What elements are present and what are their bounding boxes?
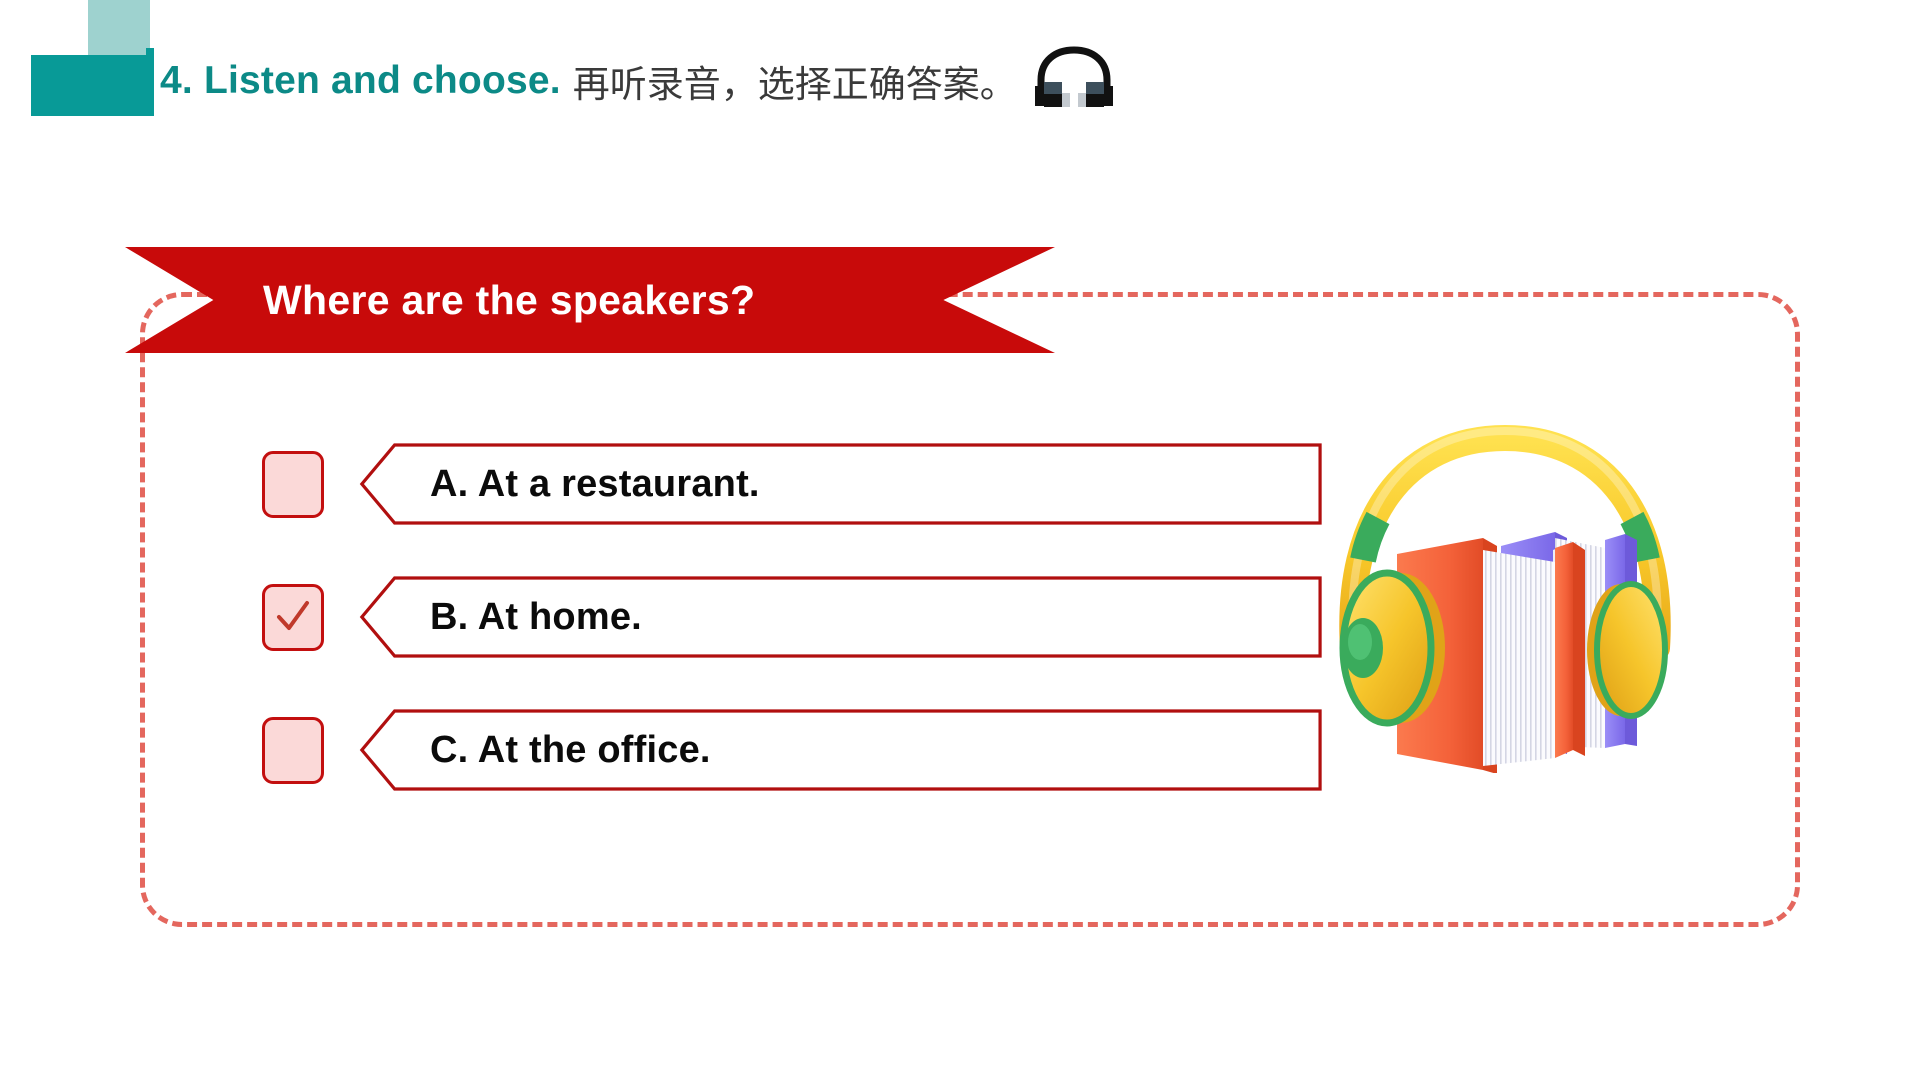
- option-label-a: A. At a restaurant.: [430, 443, 760, 525]
- header-decoration-accent-bar: [146, 48, 154, 116]
- option-checkbox-b[interactable]: [262, 584, 324, 651]
- option-ribbon-b[interactable]: B. At home.: [358, 576, 1322, 658]
- page-header: 4. Listen and choose. 再听录音，选择正确答案。: [160, 46, 1117, 116]
- option-ribbon-c[interactable]: C. At the office.: [358, 709, 1322, 791]
- option-label-c: C. At the office.: [430, 709, 711, 791]
- option-checkbox-a[interactable]: [262, 451, 324, 518]
- page-title-english: 4. Listen and choose.: [160, 59, 561, 103]
- option-row-a[interactable]: A. At a restaurant.: [262, 440, 1322, 528]
- question-banner: Where are the speakers?: [125, 247, 1055, 353]
- question-text: Where are the speakers?: [263, 277, 755, 324]
- answer-options-list: A. At a restaurant. B. At home. C. At th…: [262, 440, 1322, 839]
- option-label-b: B. At home.: [430, 576, 642, 658]
- option-ribbon-a[interactable]: A. At a restaurant.: [358, 443, 1322, 525]
- option-row-b[interactable]: B. At home.: [262, 573, 1322, 661]
- headphones-icon: [1031, 46, 1117, 108]
- header-decoration-dark-block: [31, 55, 146, 116]
- option-row-c[interactable]: C. At the office.: [262, 706, 1322, 794]
- option-checkbox-c[interactable]: [262, 717, 324, 784]
- check-icon: [273, 597, 313, 637]
- page-title-chinese: 再听录音，选择正确答案。: [573, 54, 1017, 108]
- headphones-over-books-illustration: [1305, 398, 1705, 773]
